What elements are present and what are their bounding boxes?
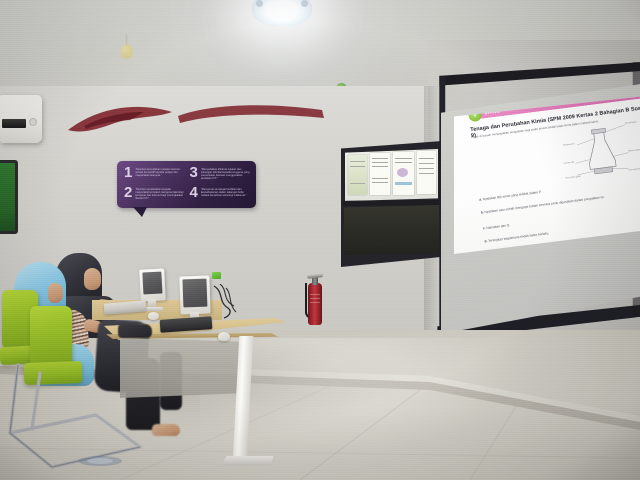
monitor-left-screen [142,272,162,295]
ac-vent-icon [2,119,26,128]
projector-screen: S SAINS TINGKATAN 4 & 5 Tenaga dan Perub… [432,62,640,362]
board-poster [348,155,367,195]
presentation-slide: S SAINS TINGKATAN 4 & 5 Tenaga dan Perub… [454,96,640,254]
poster-number-4: 4 [190,186,198,200]
desk-clutter [118,324,152,338]
q-text-d: Terangkan bagaimana tindak balas berlaku… [488,231,550,243]
svg-text:Gas terbebas: Gas terbebas [625,120,637,124]
visi-misi-poster: 1 "Memberi kemudahan capaian internet se… [117,161,256,208]
poster-text-2: "Memberi pendedahan kepada masyarakat te… [135,186,184,200]
poster-item-3: 3 "Menyediakan khidmat rujukan dan sokon… [190,166,251,184]
student-front-face [48,283,63,303]
poster-text-4: "Menyemai semangat berdikari dan keusaha… [201,186,250,197]
svg-text:Larutan asid: Larutan asid [563,160,574,164]
extinguisher-body [308,283,322,325]
svg-text:Pemanas Bunsen: Pemanas Bunsen [629,168,640,172]
poster-item-1: 1 "Memberi kemudahan capaian internet se… [124,166,185,184]
q-text-c: Namakan gas Q. [486,223,510,230]
board-poster [393,152,414,195]
ac-knob-icon [29,118,37,126]
classroom-photo: 1 "Memberi kemudahan capaian internet se… [0,0,640,480]
green-board [0,160,18,234]
poster-text-3: "Menyediakan khidmat rujukan dan sokonga… [201,166,250,180]
cable-bundle [212,284,238,320]
student-back-face [84,268,101,290]
poster-text-1: "Memberi kemudahan capaian internet seca… [135,166,184,177]
wall-notice-board [341,141,442,267]
slide-apparatus-diagram: Gas terbebas Kelalang kon Larutan asid S… [559,119,640,183]
mouse-rear [148,312,159,320]
monitor-right-screen [182,279,207,308]
q-text-a: Nyatakan titik emas yang terlibat dalam … [482,190,541,201]
desk-modesty-panel [120,338,240,398]
board-fabric-panel [344,205,439,255]
board-rail [343,200,440,206]
monitor-left [139,268,166,301]
slide-question-a: a. Nyatakan titik emas yang terlibat dal… [479,177,640,203]
mouse-front [218,332,230,341]
sticky-note-green [212,272,221,279]
air-conditioner [0,95,42,143]
wall-swoosh-graphic [60,96,340,144]
desk-foot [222,456,274,466]
poster-number-3: 3 [190,166,198,180]
extinguisher-handle-icon [307,273,323,279]
svg-text:Kelalang kon: Kelalang kon [563,143,575,146]
monitor-right [179,275,210,314]
board-poster [370,153,390,195]
poster-item-2: 2 "Memberi pendedahan kepada masyarakat … [124,186,185,204]
balloon-yellow-icon [120,44,133,59]
poster-number-1: 1 [124,166,132,180]
board-glass [345,149,438,201]
poster-item-4: 4 "Menyemai semangat berdikari dan keusa… [190,186,251,204]
svg-text:Serbuk logam: Serbuk logam [628,149,640,153]
fire-extinguisher [305,271,325,325]
poster-number-2: 2 [124,186,132,200]
svg-text:Penyumbat getah: Penyumbat getah [565,175,581,180]
